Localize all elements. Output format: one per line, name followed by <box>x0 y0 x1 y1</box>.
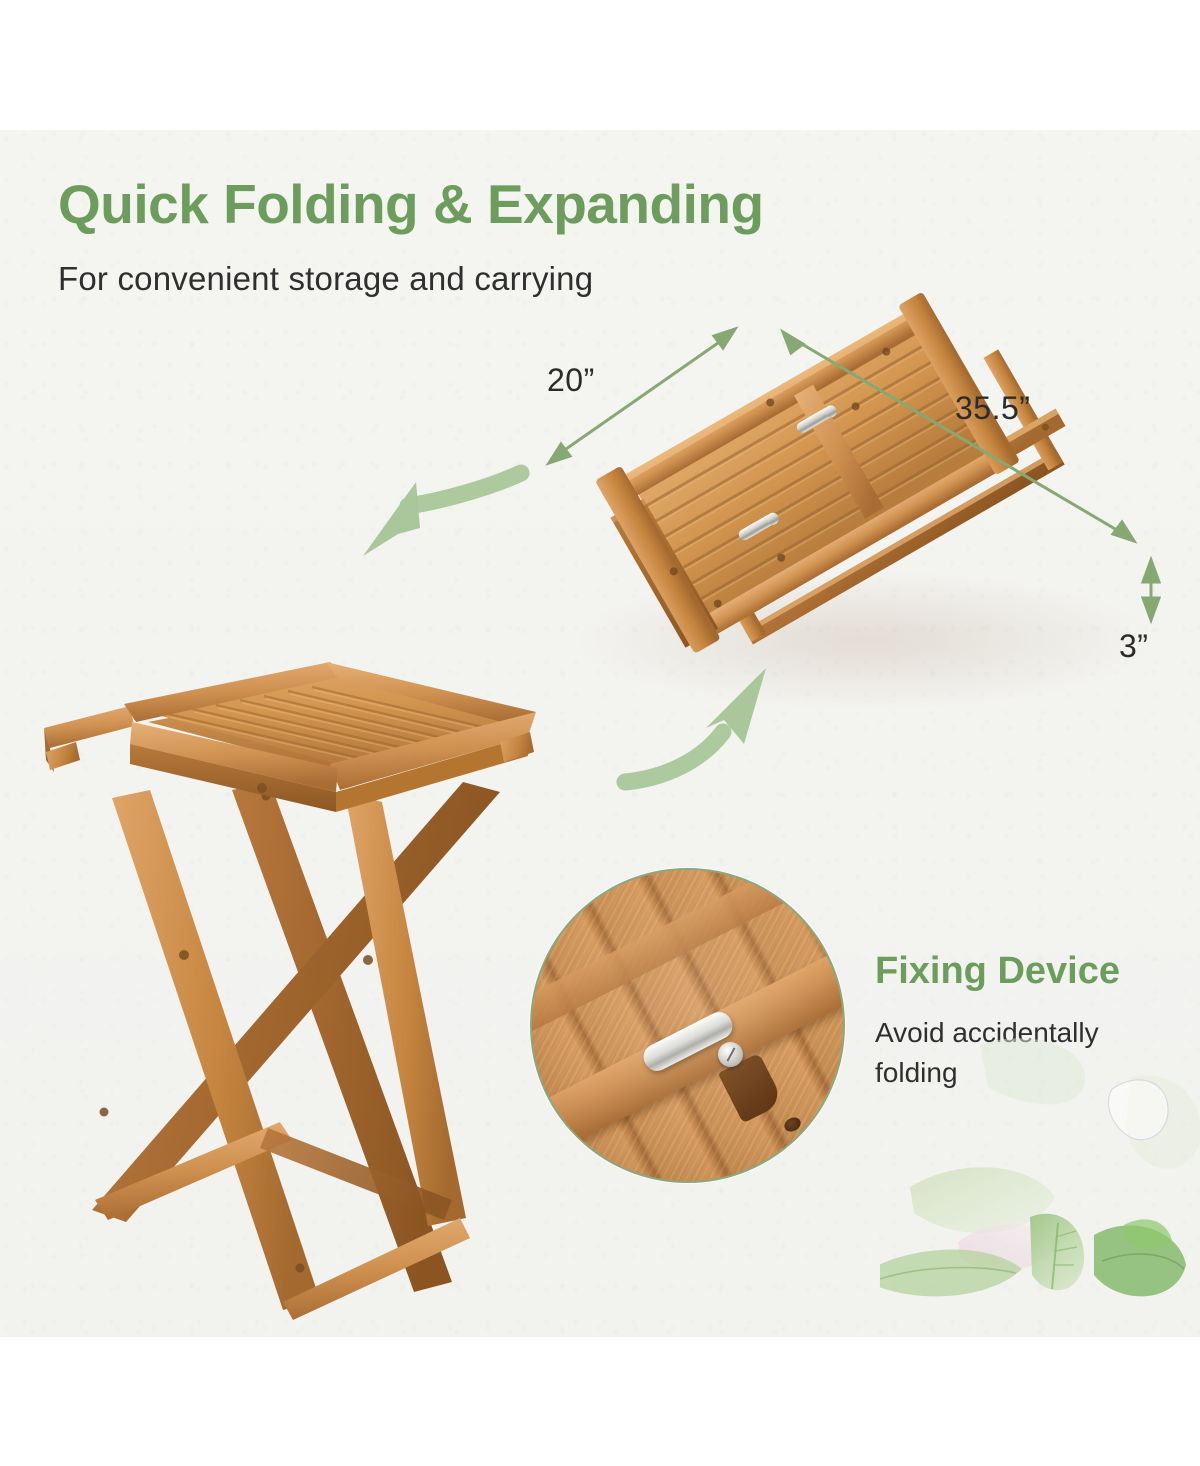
feature-description: Avoid accidentally folding <box>875 1013 1175 1093</box>
dimension-label-width: 35.5” <box>955 390 1030 427</box>
page-title: Quick Folding & Expanding <box>58 176 764 234</box>
feature-title: Fixing Device <box>875 950 1120 993</box>
dimension-label-depth: 20” <box>547 362 595 399</box>
dimension-label-height: 3” <box>1119 628 1148 665</box>
fixing-device-closeup <box>530 868 845 1183</box>
infographic-page: Quick Folding & Expanding For convenient… <box>0 0 1200 1466</box>
circle-vignette <box>532 870 843 1181</box>
page-subtitle: For convenient storage and carrying <box>58 260 593 298</box>
